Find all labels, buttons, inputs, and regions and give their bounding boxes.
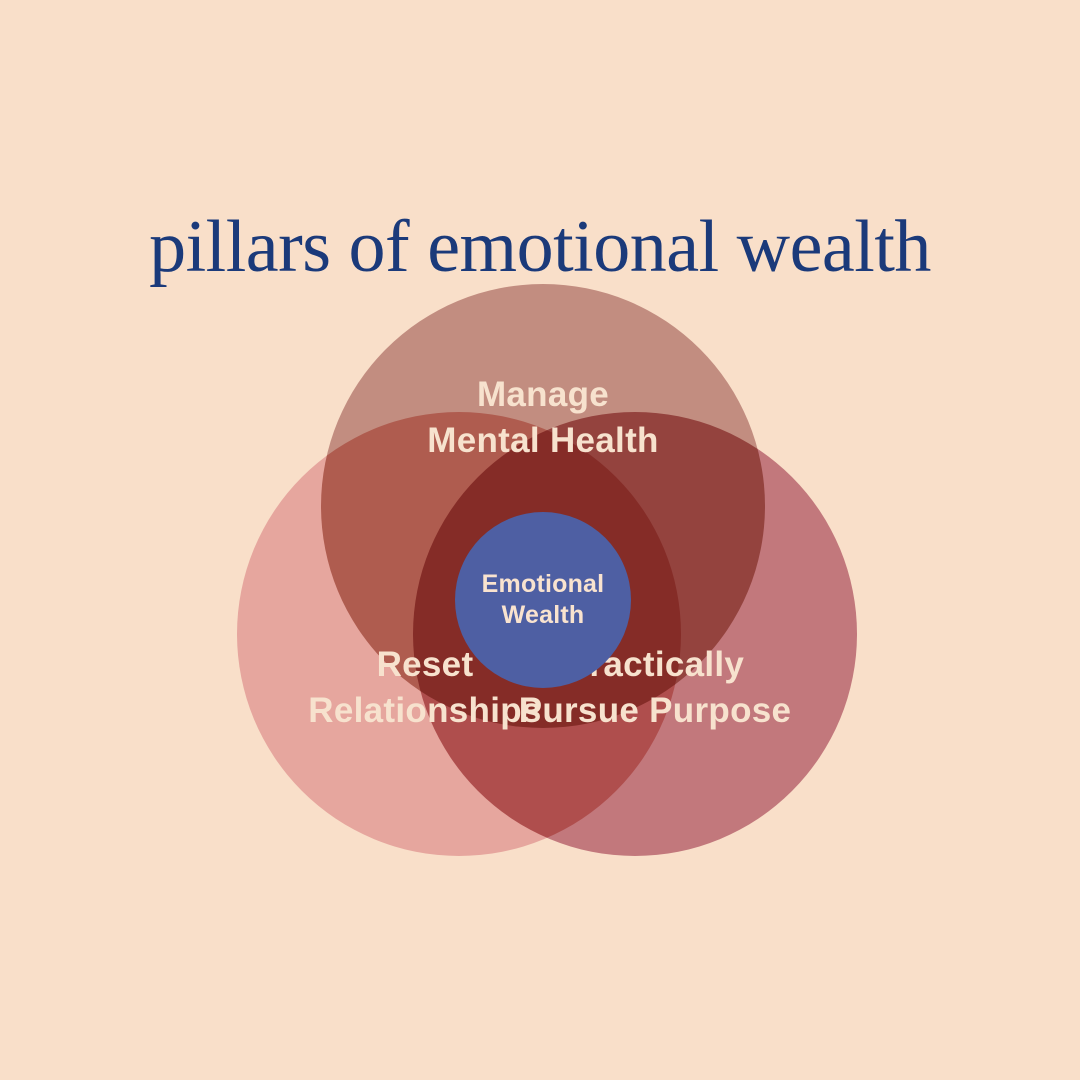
venn-center-circle-emotional-wealth[interactable]: Emotional Wealth [455, 512, 631, 688]
poster-canvas: pillars of emotional wealth Manage Menta… [0, 0, 1080, 1080]
venn-label-emotional-wealth: Emotional Wealth [455, 569, 631, 632]
venn-diagram: Manage Mental Health Reset Relationships… [0, 0, 1080, 1080]
